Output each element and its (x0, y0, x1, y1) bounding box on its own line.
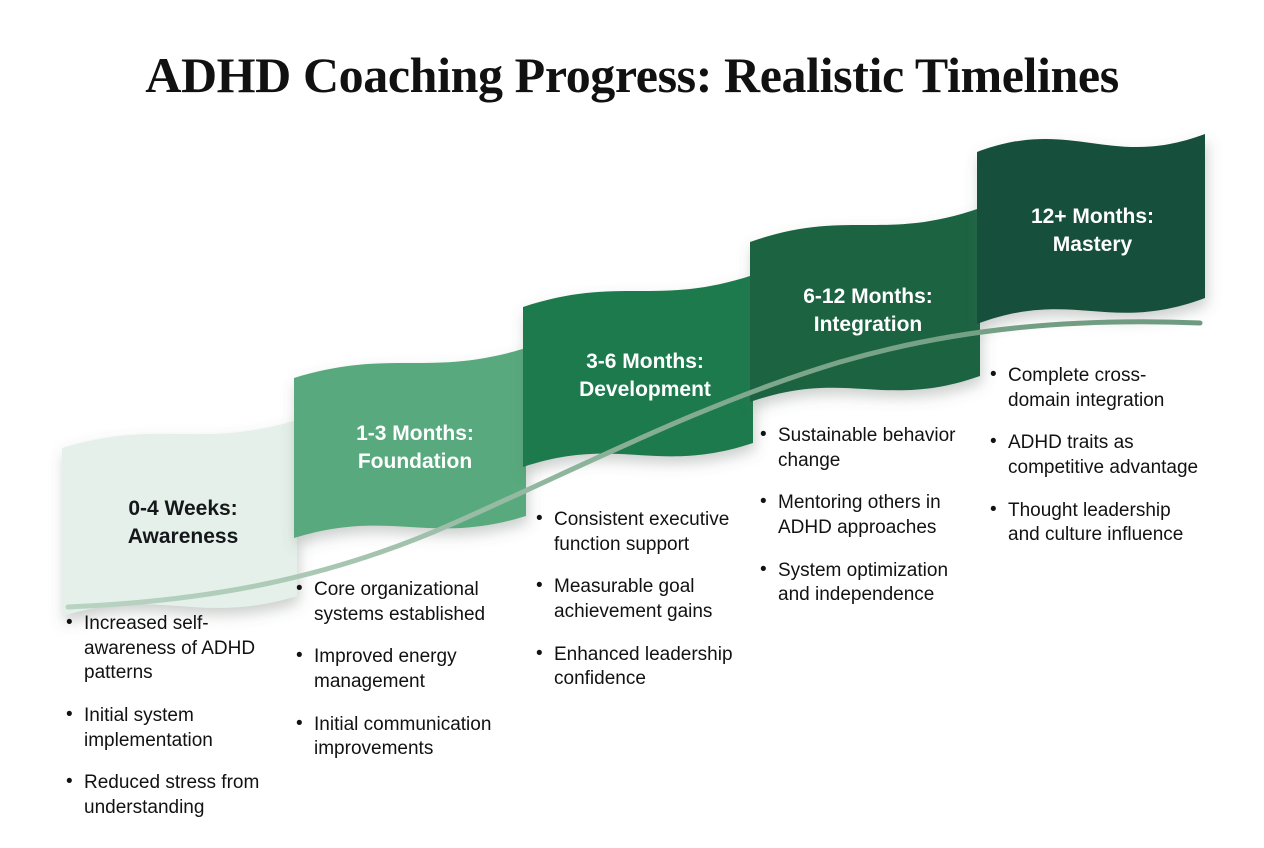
stage-label-development[interactable]: 3-6 Months: Development (535, 348, 755, 403)
list-item: System optimization and independence (758, 559, 980, 608)
list-item: Thought leadership and culture influence (988, 499, 1203, 548)
list-item: Core organizational systems established (294, 578, 519, 627)
list-item: Initial communication improvements (294, 713, 519, 762)
list-item: ADHD traits as competitive advantage (988, 431, 1203, 480)
bullet-list: Core organizational systems established … (294, 578, 519, 762)
bullets-awareness: Increased self-awareness of ADHD pattern… (64, 612, 294, 821)
bullets-foundation: Core organizational systems established … (294, 578, 519, 762)
list-item: Increased self-awareness of ADHD pattern… (64, 612, 294, 686)
list-item: Reduced stress from understanding (64, 771, 294, 820)
stage-label-foundation[interactable]: 1-3 Months: Foundation (310, 420, 520, 475)
bullets-development: Consistent executive function support Me… (534, 508, 759, 692)
bullet-list: Complete cross-domain integration ADHD t… (988, 364, 1203, 548)
list-item: Consistent executive function support (534, 508, 759, 557)
bullet-list: Sustainable behavior change Mentoring ot… (758, 424, 980, 608)
bullet-list: Increased self-awareness of ADHD pattern… (64, 612, 294, 821)
list-item: Complete cross-domain integration (988, 364, 1203, 413)
bullets-integration: Sustainable behavior change Mentoring ot… (758, 424, 980, 608)
bullet-list: Consistent executive function support Me… (534, 508, 759, 692)
list-item: Measurable goal achievement gains (534, 575, 759, 624)
stage-label-integration[interactable]: 6-12 Months: Integration (758, 283, 978, 338)
list-item: Initial system implementation (64, 704, 294, 753)
stage-label-mastery[interactable]: 12+ Months: Mastery (985, 203, 1200, 258)
list-item: Enhanced leadership confidence (534, 643, 759, 692)
infographic-canvas: ADHD Coaching Progress: Realistic Timeli… (0, 0, 1264, 848)
list-item: Sustainable behavior change (758, 424, 980, 473)
list-item: Improved energy management (294, 645, 519, 694)
bullets-mastery: Complete cross-domain integration ADHD t… (988, 364, 1203, 548)
page-title: ADHD Coaching Progress: Realistic Timeli… (0, 46, 1264, 104)
stage-label-awareness[interactable]: 0-4 Weeks: Awareness (78, 495, 288, 550)
list-item: Mentoring others in ADHD approaches (758, 491, 980, 540)
